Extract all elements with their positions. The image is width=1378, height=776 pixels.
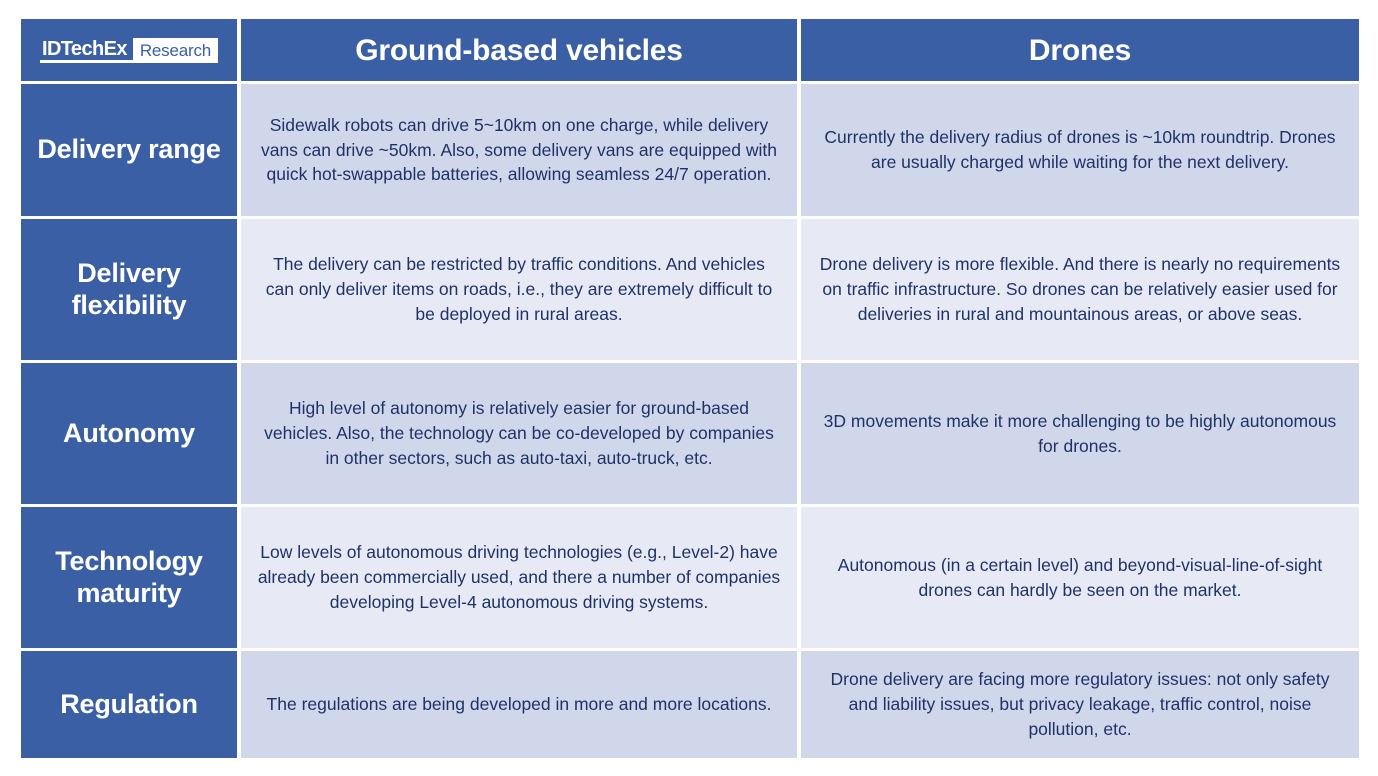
cell-text: The regulations are being developed in m… (267, 692, 772, 717)
cell-drones-autonomy: 3D movements make it more challenging to… (801, 363, 1359, 504)
column-header-label: Drones (1029, 34, 1131, 67)
row-label-text: Technology maturity (29, 546, 229, 610)
table-row: Autonomy High level of autonomy is relat… (21, 363, 1359, 504)
column-header-drones: Drones (801, 19, 1359, 81)
row-label-regulation: Regulation (21, 651, 237, 758)
brand-logo-cell: IDTechEx Research (21, 19, 237, 81)
column-header-ground-based-vehicles: Ground-based vehicles (241, 19, 797, 81)
logo-research-badge: Research (133, 38, 218, 63)
cell-text: The delivery can be restricted by traffi… (257, 252, 781, 327)
cell-text: Drone delivery are facing more regulator… (817, 667, 1343, 742)
cell-drones-technology-maturity: Autonomous (in a certain level) and beyo… (801, 507, 1359, 648)
cell-drones-regulation: Drone delivery are facing more regulator… (801, 651, 1359, 758)
slide-page: IDTechEx Research Ground-based vehicles … (0, 0, 1378, 776)
cell-drones-delivery-range: Currently the delivery radius of drones … (801, 84, 1359, 216)
column-header-label: Ground-based vehicles (355, 34, 683, 67)
cell-ground-delivery-flexibility: The delivery can be restricted by traffi… (241, 219, 797, 360)
cell-drones-delivery-flexibility: Drone delivery is more flexible. And the… (801, 219, 1359, 360)
table-row: Regulation The regulations are being dev… (21, 651, 1359, 758)
row-label-text: Delivery flexibility (29, 258, 229, 322)
row-label-text: Autonomy (63, 418, 195, 450)
cell-text: Low levels of autonomous driving technol… (257, 540, 781, 615)
table-row: Delivery flexibility The delivery can be… (21, 219, 1359, 360)
table-row: Technology maturity Low levels of autono… (21, 507, 1359, 648)
cell-ground-delivery-range: Sidewalk robots can drive 5~10km on one … (241, 84, 797, 216)
idtechex-research-logo: IDTechEx Research (40, 38, 218, 63)
cell-text: Autonomous (in a certain level) and beyo… (817, 553, 1343, 603)
row-label-text: Regulation (60, 689, 198, 721)
comparison-table: IDTechEx Research Ground-based vehicles … (21, 19, 1359, 757)
cell-ground-technology-maturity: Low levels of autonomous driving technol… (241, 507, 797, 648)
row-label-technology-maturity: Technology maturity (21, 507, 237, 648)
row-label-delivery-range: Delivery range (21, 84, 237, 216)
logo-wordmark: IDTechEx (40, 38, 133, 63)
cell-text: Drone delivery is more flexible. And the… (817, 252, 1343, 327)
table-row: Delivery range Sidewalk robots can drive… (21, 84, 1359, 216)
cell-text: 3D movements make it more challenging to… (817, 409, 1343, 459)
table-header-row: IDTechEx Research Ground-based vehicles … (21, 19, 1359, 81)
cell-text: High level of autonomy is relatively eas… (257, 396, 781, 471)
cell-ground-autonomy: High level of autonomy is relatively eas… (241, 363, 797, 504)
row-label-text: Delivery range (37, 134, 220, 166)
cell-text: Sidewalk robots can drive 5~10km on one … (257, 113, 781, 188)
cell-text: Currently the delivery radius of drones … (817, 125, 1343, 175)
row-label-delivery-flexibility: Delivery flexibility (21, 219, 237, 360)
row-label-autonomy: Autonomy (21, 363, 237, 504)
cell-ground-regulation: The regulations are being developed in m… (241, 651, 797, 758)
